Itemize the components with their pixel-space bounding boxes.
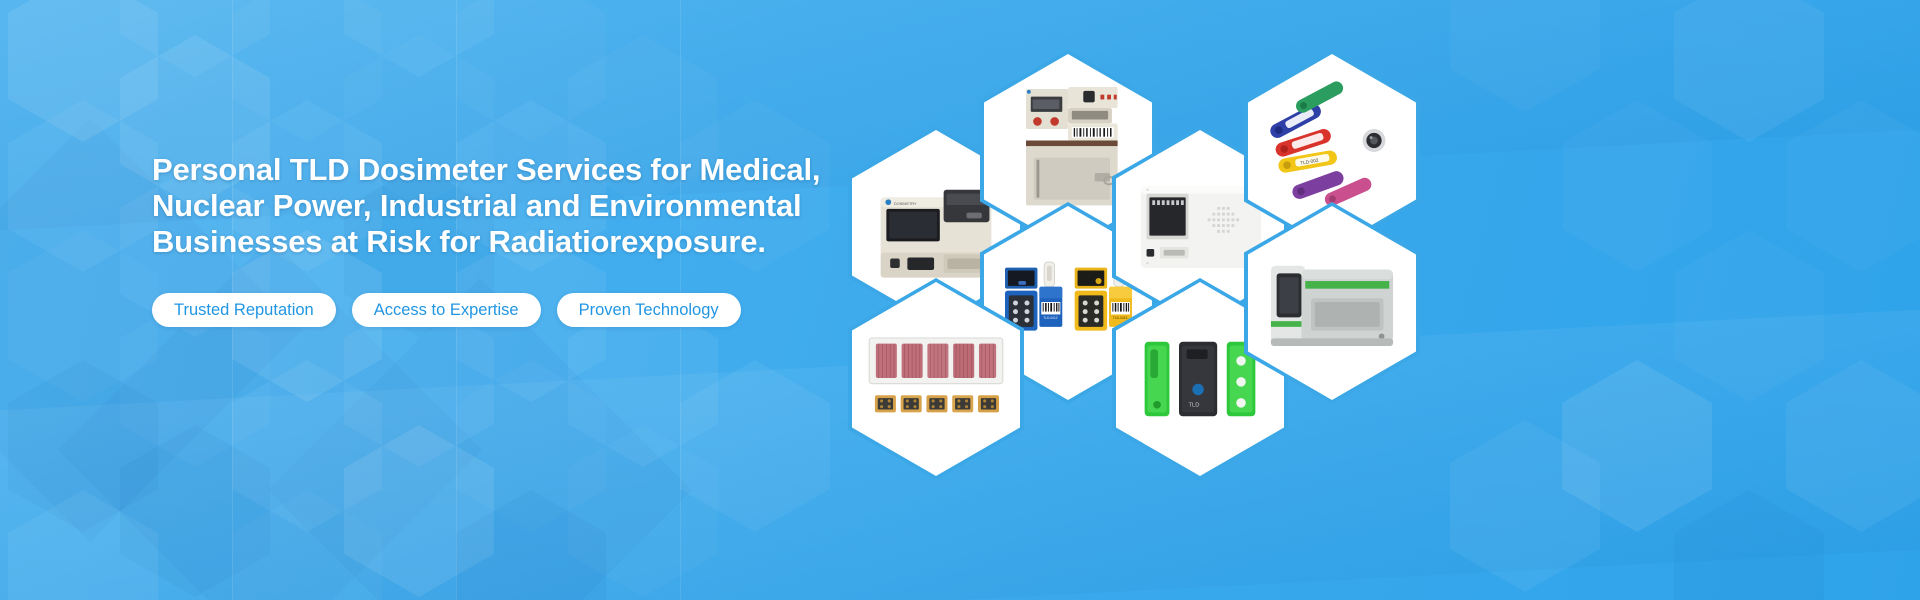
background-hexagon — [232, 0, 382, 142]
svg-text:TLD: TLD — [1189, 403, 1200, 409]
background-hexagon — [8, 490, 158, 600]
pill-access-to-expertise[interactable]: Access to Expertise — [352, 293, 541, 327]
hex-tile-tld-analyzer-unit[interactable] — [1244, 202, 1420, 404]
hero-banner: Personal TLD Dosimeter Services for Medi… — [0, 0, 1920, 600]
hex-image-frame — [1248, 206, 1416, 400]
background-hexagon — [1786, 100, 1920, 272]
headline-line-2: Nuclear Power, Industrial and Environmen… — [152, 188, 852, 224]
background-hexagon — [120, 0, 270, 77]
headline-line-1: Personal TLD Dosimeter Services for Medi… — [152, 152, 852, 188]
background-hexagon — [1562, 360, 1712, 532]
background-hexagon — [232, 360, 382, 532]
background-hexagon — [680, 360, 830, 532]
background-hexagon — [8, 360, 158, 532]
background-hexagon — [456, 360, 606, 532]
product-hexagon-cluster: DOSIMETRY — [830, 40, 1430, 460]
headline-line-3: Businesses at Risk for Radiatiorexposure… — [152, 224, 852, 260]
pill-proven-technology[interactable]: Proven Technology — [557, 293, 741, 327]
background-hexagon — [8, 0, 158, 142]
background-hexagon — [232, 490, 382, 600]
background-hexagon — [1674, 490, 1824, 600]
background-hexagon — [1562, 100, 1712, 272]
background-hexagon — [8, 100, 158, 272]
background-hexagon — [8, 230, 158, 402]
hero-content: Personal TLD Dosimeter Services for Medi… — [152, 152, 852, 327]
hex-tile-tld-chip-trays[interactable] — [848, 278, 1024, 480]
background-hexagon — [456, 490, 606, 600]
background-hexagon — [456, 0, 606, 142]
background-hexagon — [1450, 420, 1600, 592]
tld-chip-trays-icon — [852, 282, 1020, 476]
background-hexagon — [120, 425, 270, 597]
background-hexagon — [1450, 0, 1600, 112]
page-title: Personal TLD Dosimeter Services for Medi… — [152, 152, 852, 260]
background-hexagon — [1674, 0, 1824, 142]
svg-text:TLD-0412: TLD-0412 — [1043, 316, 1058, 320]
background-hexagon — [568, 425, 718, 597]
background-hexagon — [344, 425, 494, 597]
hex-image-frame — [852, 282, 1020, 476]
background-hexagon — [344, 0, 494, 77]
svg-text:DOSIMETRY: DOSIMETRY — [894, 202, 917, 206]
pill-trusted-reputation[interactable]: Trusted Reputation — [152, 293, 336, 327]
feature-pill-row: Trusted Reputation Access to Expertise P… — [152, 293, 852, 327]
background-hexagon — [1786, 360, 1920, 532]
tld-analyzer-unit-icon — [1248, 206, 1416, 400]
background-hexagon — [1674, 230, 1824, 402]
